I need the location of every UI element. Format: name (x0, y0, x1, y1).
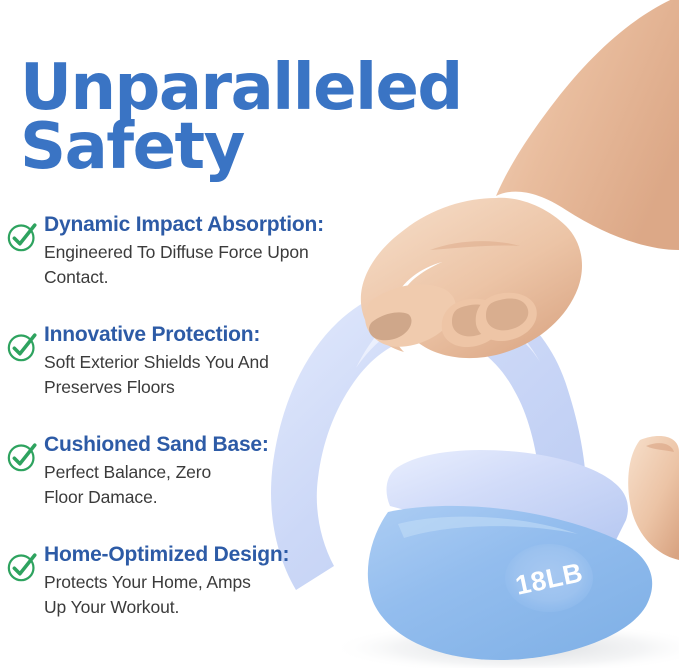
feature-description: Soft Exterior Shields You And Preserves … (44, 350, 420, 400)
check-circle-icon (5, 550, 39, 584)
page-title-line-2: Safety (20, 118, 540, 177)
feature-title: Cushioned Sand Base: (44, 432, 420, 458)
supporting-hand (628, 436, 679, 560)
check-circle-icon (5, 330, 39, 364)
feature-title: Innovative Protection: (44, 322, 420, 348)
feature-item-cushioned-sand-base: Cushioned Sand Base: Perfect Balance, Ze… (0, 432, 420, 542)
feature-description: Protects Your Home, Amps Up Your Workout… (44, 570, 420, 620)
feature-description: Perfect Balance, Zero Floor Damace. (44, 460, 420, 510)
feature-list: Dynamic Impact Absorption: Engineered To… (0, 212, 420, 652)
check-circle-icon (5, 220, 39, 254)
feature-item-dynamic-impact-absorption: Dynamic Impact Absorption: Engineered To… (0, 212, 420, 322)
feature-description: Engineered To Diffuse Force Upon Contact… (44, 240, 420, 290)
page-title: Unparalleled Safety (20, 59, 540, 177)
check-circle-icon (5, 440, 39, 474)
product-feature-graphic: 18LB Unparalleled Safety Dynamic Impact … (0, 0, 679, 668)
feature-item-home-optimized-design: Home-Optimized Design: Protects Your Hom… (0, 542, 420, 652)
feature-title: Home-Optimized Design: (44, 542, 420, 568)
feature-title: Dynamic Impact Absorption: (44, 212, 420, 238)
feature-item-innovative-protection: Innovative Protection: Soft Exterior Shi… (0, 322, 420, 432)
